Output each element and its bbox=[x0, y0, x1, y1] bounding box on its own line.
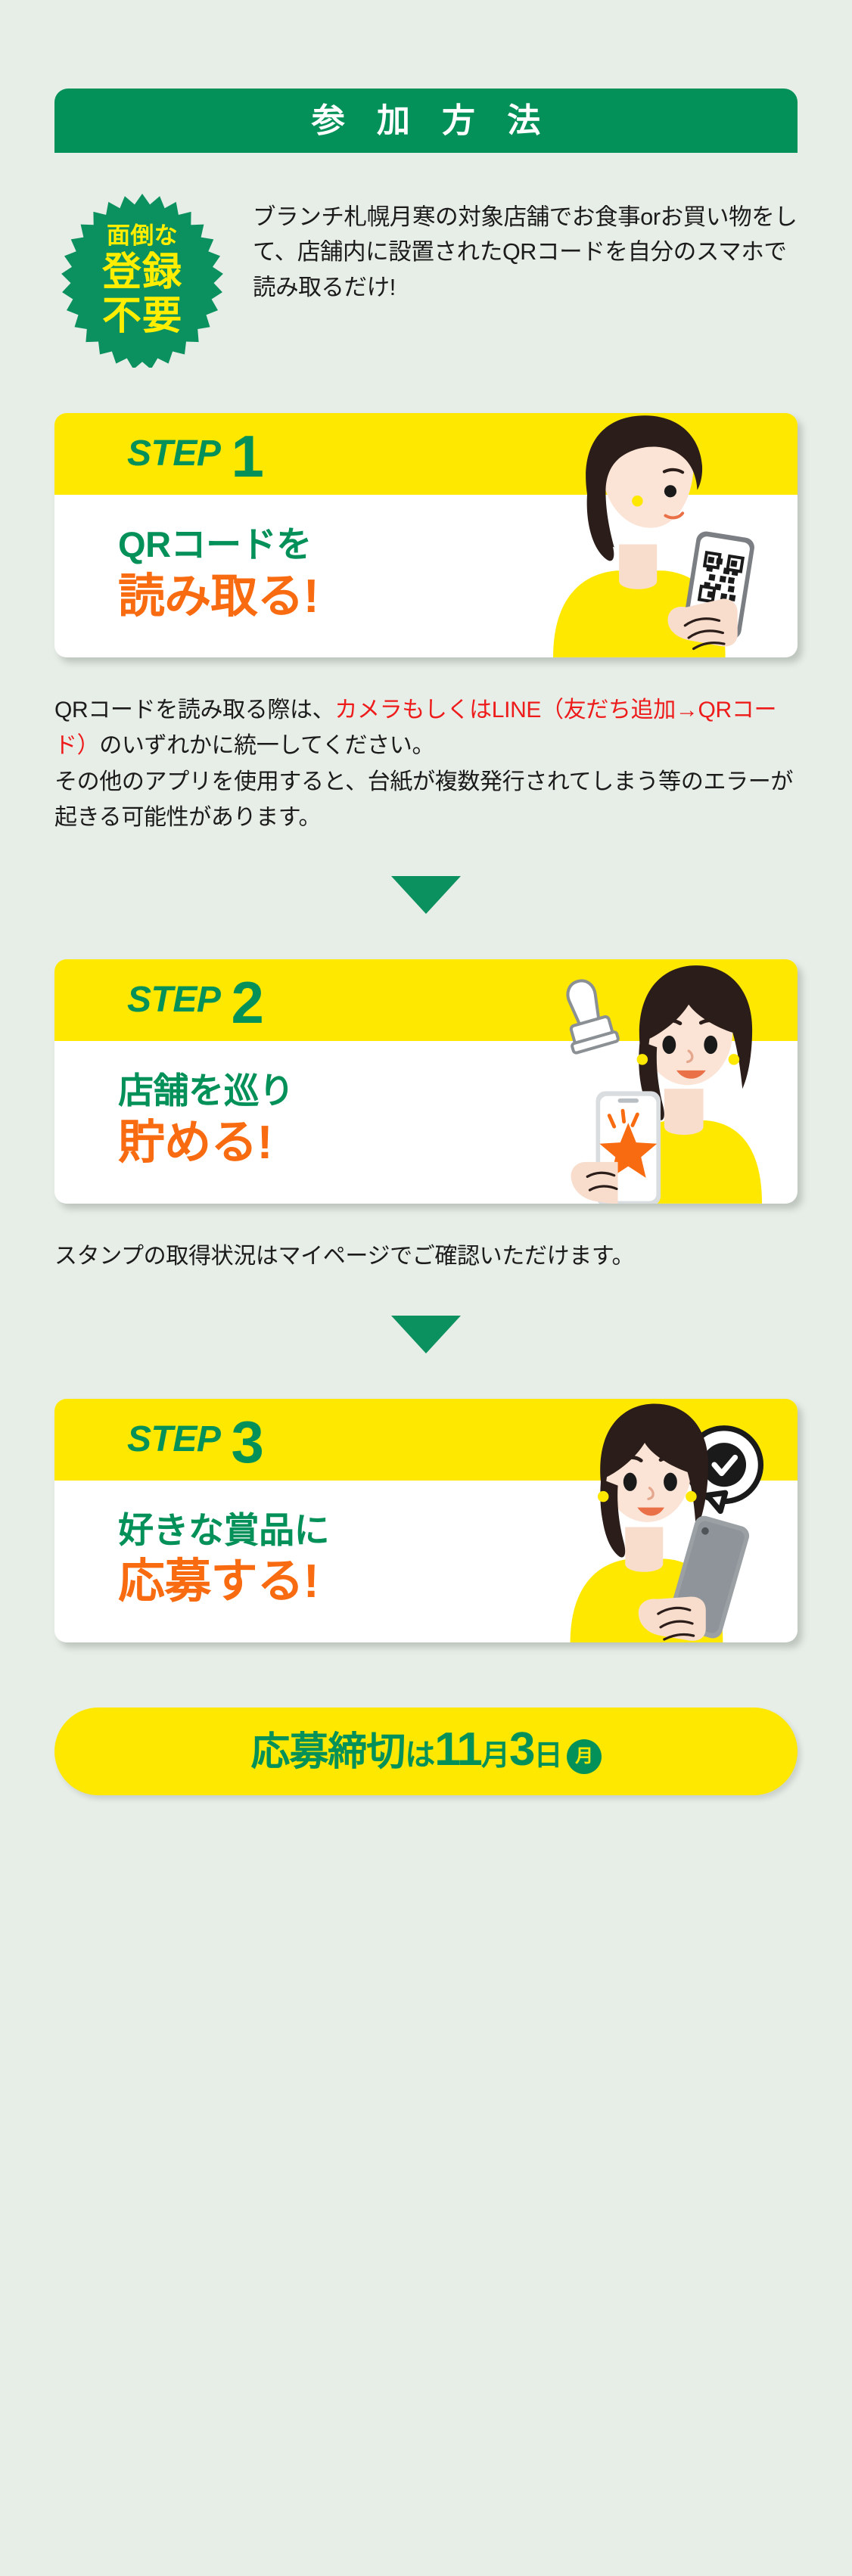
step-3-number: 3 bbox=[231, 1419, 263, 1467]
note-2-seg-1: スタンプの取得状況はマイページでご確認いただけます。 bbox=[54, 1244, 634, 1269]
deadline-day-unit: 日 bbox=[534, 1742, 562, 1770]
deadline-text: 応募締切は11月3日月 bbox=[250, 1726, 601, 1777]
step-3-label: STEP bbox=[127, 1422, 220, 1458]
step-1-label: STEP bbox=[127, 436, 220, 472]
intro-description: ブランチ札幌月寒の対象店舗でお食事orお買い物をして、店舗内に設置されたQRコー… bbox=[253, 189, 798, 305]
step-2-header: STEP 2 bbox=[54, 959, 798, 1041]
deadline-prefix: 応募締切 bbox=[250, 1732, 405, 1772]
step-1-number: 1 bbox=[231, 433, 263, 481]
deadline-banner: 応募締切は11月3日月 bbox=[54, 1707, 798, 1795]
no-registration-badge: 面倒な 登録 不要 bbox=[54, 192, 230, 368]
step-2-body: 店舗を巡り 貯める! bbox=[54, 1041, 798, 1204]
step-card-1: STEP 1 QRコードを 読み取る! bbox=[54, 413, 798, 657]
participation-guide-page: 参 加 方 法 面倒な 登録 不要 ブランチ札幌月寒の対象店舗でお食事orお買い… bbox=[0, 89, 852, 2576]
triangle-down-icon bbox=[391, 876, 461, 914]
deadline-month-unit: 月 bbox=[481, 1742, 509, 1770]
intro-block: 面倒な 登録 不要 ブランチ札幌月寒の対象店舗でお食事orお買い物をして、店舗内… bbox=[54, 189, 798, 368]
badge-line-1: 面倒な bbox=[107, 224, 178, 247]
section-header-banner: 参 加 方 法 bbox=[54, 89, 798, 153]
step-1-header: STEP 1 bbox=[54, 413, 798, 495]
badge-text-stack: 面倒な 登録 不要 bbox=[54, 192, 230, 368]
step-2-line-green: 店舗を巡り bbox=[118, 1071, 798, 1111]
step-2-number: 2 bbox=[231, 979, 263, 1027]
deadline-month: 11 bbox=[434, 1726, 481, 1773]
note-1-seg-1: QRコードを読み取る際は、 bbox=[54, 698, 334, 722]
step-1-line-green: QRコードを bbox=[118, 525, 798, 565]
step-3-line-orange: 応募する! bbox=[118, 1556, 798, 1608]
page-title: 参 加 方 法 bbox=[300, 104, 552, 138]
deadline-day-of-week-badge: 月 bbox=[567, 1739, 602, 1774]
step-1-body: QRコードを 読み取る! bbox=[54, 495, 798, 657]
note-step-1: QRコードを読み取る際は、カメラもしくはLINE（友だち追加→QRコード）のいず… bbox=[54, 692, 798, 836]
note-step-2: スタンプの取得状況はマイページでご確認いただけます。 bbox=[54, 1238, 798, 1274]
badge-line-3: 不要 bbox=[102, 297, 182, 336]
step-card-3: STEP 3 好きな賞品に 応募する! bbox=[54, 1399, 798, 1643]
step-3-line-green: 好きな賞品に bbox=[118, 1511, 798, 1551]
bottom-spacer bbox=[54, 1795, 798, 1909]
step-card-2: STEP 2 店舗を巡り 貯める! bbox=[54, 959, 798, 1204]
badge-line-2: 登録 bbox=[102, 253, 182, 292]
step-2-line-orange: 貯める! bbox=[118, 1117, 798, 1169]
note-1-seg-3: のいずれかに統一してください。 bbox=[99, 733, 434, 758]
step-1-line-orange: 読み取る! bbox=[118, 571, 798, 623]
triangle-down-icon bbox=[391, 1316, 461, 1353]
note-1-seg-4: その他のアプリを使用すると、台紙が複数発行されてしまう等のエラーが起きる可能性が… bbox=[54, 769, 793, 830]
step-3-body: 好きな賞品に 応募する! bbox=[54, 1481, 798, 1643]
step-2-label: STEP bbox=[127, 982, 220, 1018]
deadline-particle: は bbox=[405, 1740, 434, 1770]
deadline-day: 3 bbox=[509, 1726, 534, 1773]
step-3-header: STEP 3 bbox=[54, 1399, 798, 1481]
